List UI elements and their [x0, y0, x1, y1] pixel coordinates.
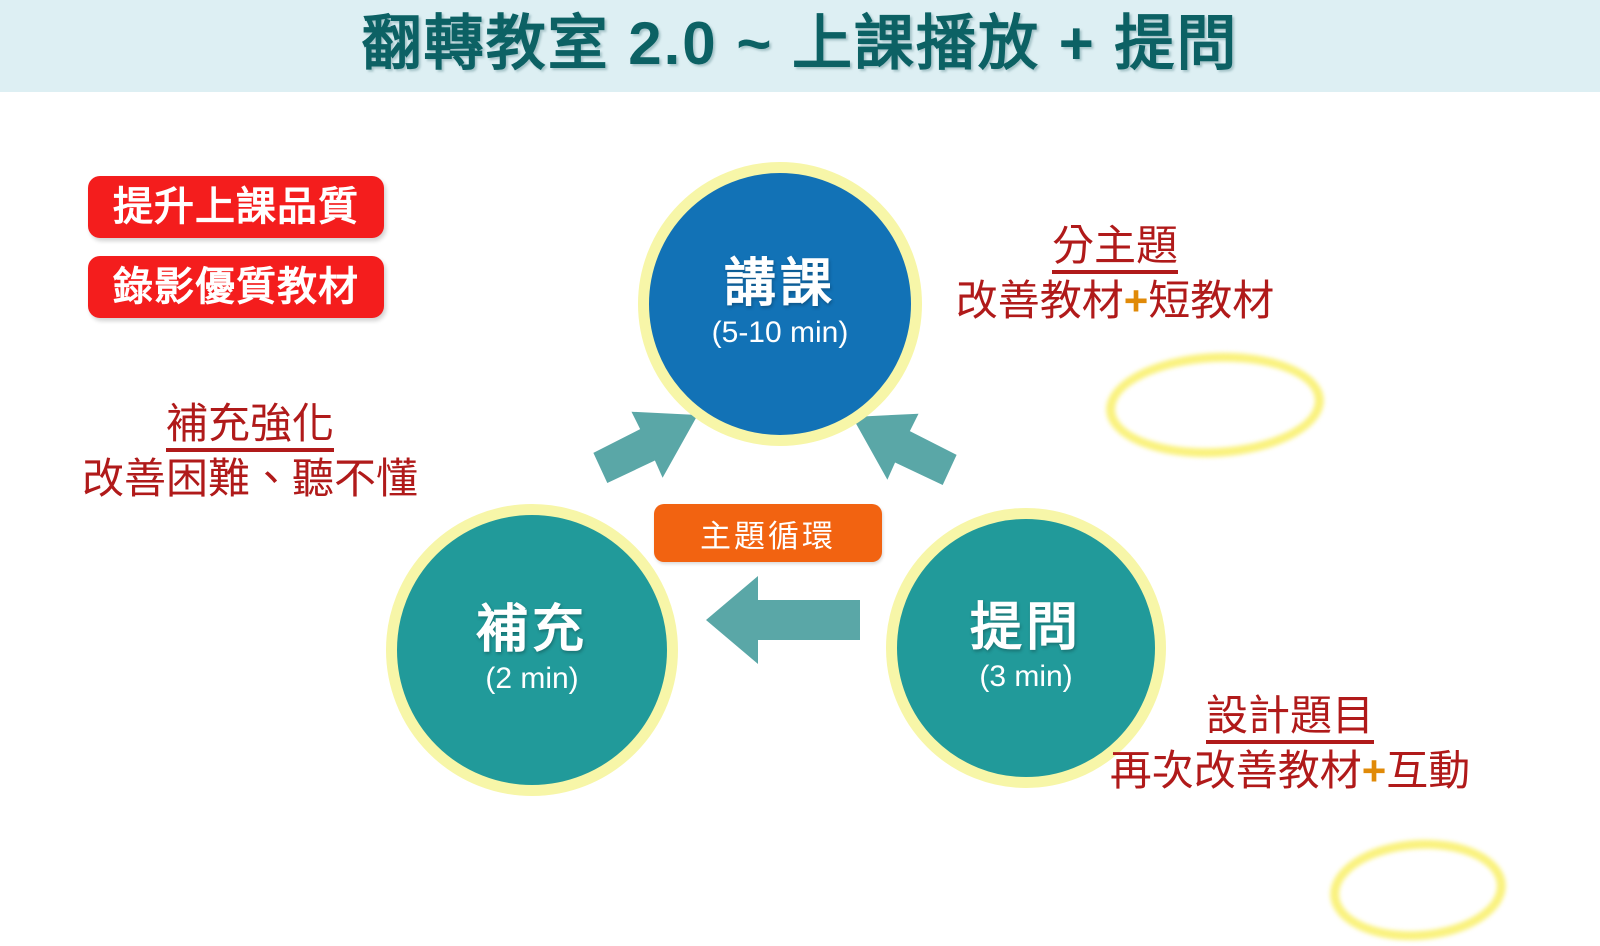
cycle-center-label: 主題循環: [654, 504, 882, 562]
page-title: 翻轉教室 2.0 ~ 上課播放 + 提問: [0, 0, 1600, 92]
annotation-reinforce: 補充強化 改善困難、聽不懂: [20, 400, 480, 502]
annotation-subtopic-body: 改善教材+短教材: [880, 277, 1350, 324]
highlight-ellipse-interaction: [1327, 834, 1510, 946]
diagram-stage: 提升上課品質 錄影優質教材 主題循環 講課 (5-10 min) 補充 (2 m…: [0, 92, 1600, 900]
annotation-subtopic-head: 分主題: [1052, 222, 1178, 274]
cycle-center-text: 主題循環: [700, 511, 836, 556]
cycle-node-question-title: 提問: [970, 601, 1082, 656]
annotation-design-head: 設計題目: [1206, 692, 1374, 744]
highlight-ellipse-short-material: [1103, 347, 1326, 462]
annotation-subtopic-body-after: 短教材: [1148, 277, 1274, 324]
annotation-subtopic-plus: +: [1124, 277, 1149, 324]
cycle-node-supplement-duration: (2 min): [485, 661, 578, 697]
annotation-design-body: 再次改善教材+互動: [1040, 747, 1540, 794]
callout-quality-label: 提升上課品質: [113, 187, 359, 227]
callout-record-quality-material: 錄影優質教材: [88, 256, 384, 318]
annotation-subtopic-body-before: 改善教材: [956, 277, 1124, 324]
arrow-question-to-supplement-icon: [706, 572, 860, 668]
callout-improve-class-quality: 提升上課品質: [88, 176, 384, 238]
cycle-node-lecture-title: 講課: [724, 257, 836, 312]
annotation-reinforce-head: 補充強化: [166, 400, 334, 452]
cycle-node-question-duration: (3 min): [979, 659, 1072, 695]
cycle-node-supplement-title: 補充: [476, 603, 588, 658]
annotation-design-body-after: 互動: [1386, 747, 1470, 794]
cycle-node-supplement[interactable]: 補充 (2 min): [386, 504, 678, 796]
cycle-node-lecture-duration: (5-10 min): [712, 315, 849, 351]
annotation-design-body-before: 再次改善教材: [1110, 747, 1362, 794]
annotation-design-plus: +: [1362, 747, 1387, 794]
annotation-design: 設計題目 再次改善教材+互動: [1040, 692, 1540, 794]
callout-video-label: 錄影優質教材: [113, 267, 359, 307]
annotation-reinforce-body: 改善困難、聽不懂: [20, 455, 480, 502]
annotation-subtopic: 分主題 改善教材+短教材: [880, 222, 1350, 324]
header-band: 翻轉教室 2.0 ~ 上課播放 + 提問: [0, 0, 1600, 92]
